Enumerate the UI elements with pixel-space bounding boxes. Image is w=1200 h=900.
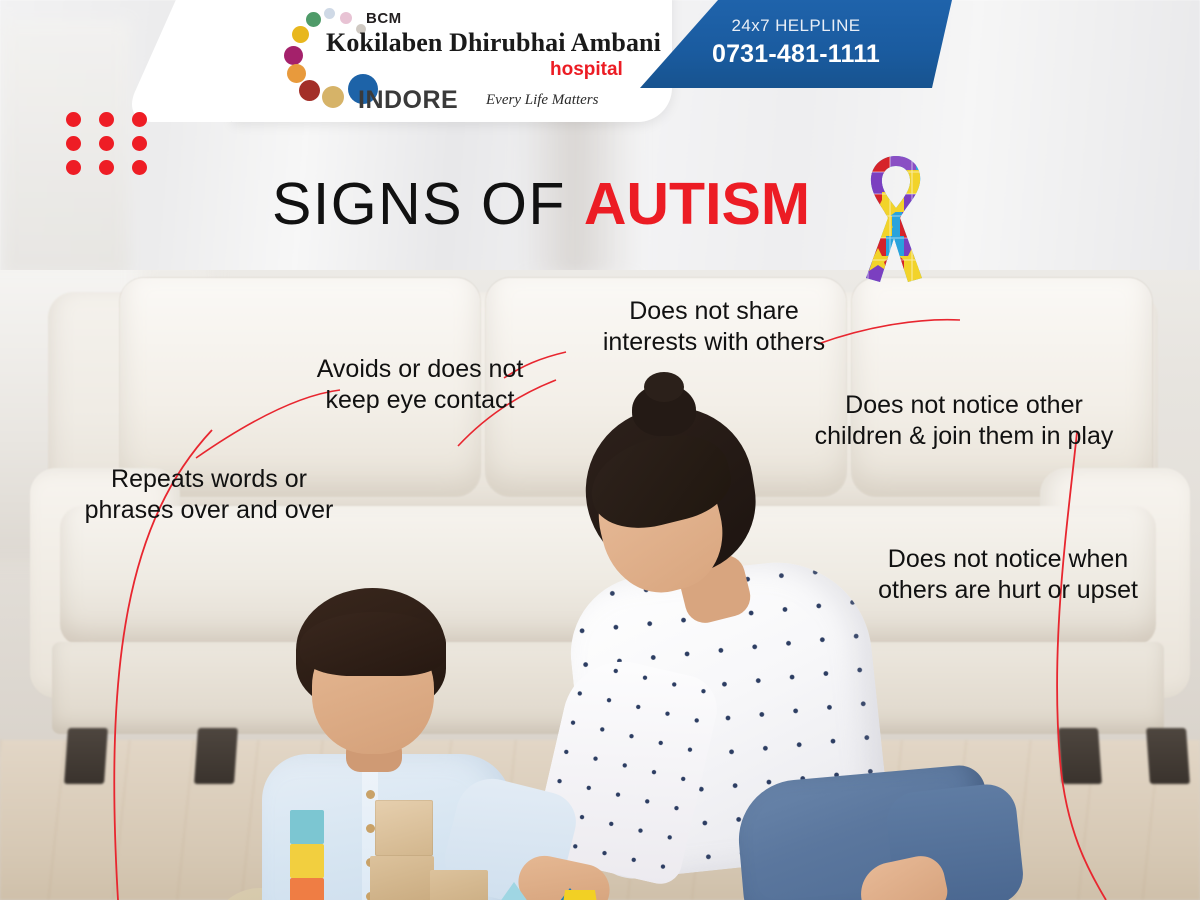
toy-block-teal xyxy=(290,810,324,844)
sofa-leg xyxy=(1146,728,1190,784)
sofa-leg xyxy=(1058,728,1102,784)
boy-shirt-button xyxy=(366,824,375,833)
sign-label-notice-children: Does not notice other children & join th… xyxy=(780,390,1148,452)
logo-hospital-name: Kokilaben Dhirubhai Ambani xyxy=(326,28,661,58)
toy-block-wood xyxy=(375,800,433,856)
sign-label-eye-contact: Avoids or does not keep eye contact xyxy=(288,354,552,416)
boy-shirt-button xyxy=(366,790,375,799)
toy-block-orange xyxy=(290,878,324,900)
sign-label-share-interests: Does not share interests with others xyxy=(568,296,860,358)
autism-awareness-ribbon-icon xyxy=(856,152,936,284)
logo-dot xyxy=(306,12,321,27)
title-highlight: AUTISM xyxy=(584,171,810,237)
logo-tagline: Every Life Matters xyxy=(486,92,598,109)
page-title: SIGNS OF AUTISM xyxy=(272,168,810,240)
logo-dot xyxy=(287,64,306,83)
logo-dot xyxy=(340,12,352,24)
infographic-canvas: 24x7 HELPLINE 0731-481-1111 BCM Kokilabe… xyxy=(0,0,1200,900)
sofa-leg xyxy=(64,728,108,784)
logo-city: INDORE xyxy=(358,86,458,115)
sign-label-repeats-words: Repeats words or phrases over and over xyxy=(62,464,356,526)
toy-block-wood xyxy=(370,856,434,900)
woman-hair-bun-top xyxy=(644,372,684,402)
decorative-dot-grid xyxy=(66,112,148,174)
helpline-number[interactable]: 0731-481-1111 xyxy=(640,40,952,69)
logo-bcm-text: BCM xyxy=(366,10,402,27)
woman-figure xyxy=(560,382,980,900)
logo-hospital-word: hospital xyxy=(550,59,623,81)
logo-dot xyxy=(292,26,309,43)
logo-dot xyxy=(284,46,303,65)
logo-dot xyxy=(299,80,320,101)
title-lead: SIGNS OF xyxy=(272,171,584,237)
hospital-logo[interactable]: BCM Kokilaben Dhirubhai Ambani hospital … xyxy=(278,6,658,116)
sign-label-notice-upset: Does not notice when others are hurt or … xyxy=(848,544,1168,606)
toy-block-yellow xyxy=(290,844,324,878)
logo-dot xyxy=(322,86,344,108)
boy-hair-fringe xyxy=(300,612,446,676)
logo-dot xyxy=(324,8,335,19)
